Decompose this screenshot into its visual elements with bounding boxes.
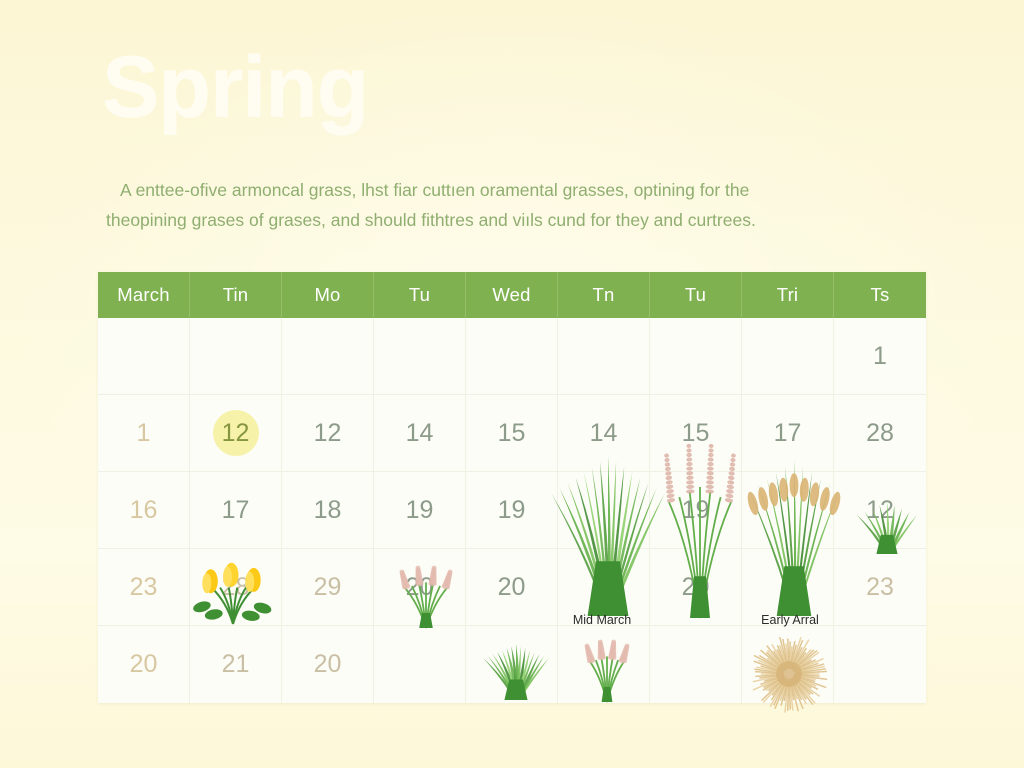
- calendar-day-cell[interactable]: [742, 626, 834, 703]
- calendar-day-cell[interactable]: [190, 318, 282, 395]
- day-number: 15: [682, 419, 710, 448]
- calendar-day-cell[interactable]: 21: [190, 626, 282, 703]
- day-number: 12: [314, 419, 342, 448]
- day-number: 1: [137, 419, 151, 448]
- calendar-header-cell-tu[interactable]: Tu: [374, 272, 466, 318]
- day-number: 23: [130, 573, 158, 602]
- calendar-day-cell[interactable]: 1: [98, 395, 190, 472]
- day-number: 1: [873, 342, 887, 371]
- day-number: 23: [866, 573, 894, 602]
- calendar-day-cell[interactable]: [834, 626, 926, 703]
- calendar-day-cell[interactable]: 17: [742, 395, 834, 472]
- calendar-day-cell[interactable]: 28: [834, 395, 926, 472]
- calendar-day-cell[interactable]: [558, 472, 650, 549]
- calendar-day-cell[interactable]: [558, 626, 650, 703]
- calendar-day-cell[interactable]: 20: [466, 549, 558, 626]
- calendar-header-cell-mo[interactable]: Mo: [282, 272, 374, 318]
- calendar-header-cell-tn[interactable]: Tn: [558, 272, 650, 318]
- day-number: 12: [222, 419, 250, 448]
- calendar-day-cell[interactable]: 20: [374, 549, 466, 626]
- calendar-day-cell[interactable]: 12: [190, 395, 282, 472]
- day-number: 17: [222, 496, 250, 525]
- calendar-day-cell[interactable]: 1: [834, 318, 926, 395]
- calendar-day-cell[interactable]: 14: [374, 395, 466, 472]
- day-number: 29: [314, 573, 342, 602]
- subtitle-line-2: theopining grases of grases, and should …: [106, 205, 924, 235]
- calendar-day-cell[interactable]: [742, 472, 834, 549]
- calendar-day-cell[interactable]: 20: [98, 626, 190, 703]
- day-number: 16: [130, 496, 158, 525]
- calendar-day-cell[interactable]: 14: [558, 395, 650, 472]
- calendar-header-cell-march[interactable]: March: [98, 272, 190, 318]
- day-number: 19: [682, 496, 710, 525]
- calendar-day-cell[interactable]: [650, 626, 742, 703]
- day-number: 19: [498, 496, 526, 525]
- calendar-day-cell[interactable]: 17: [190, 472, 282, 549]
- day-number: 17: [774, 419, 802, 448]
- calendar-day-cell[interactable]: [650, 318, 742, 395]
- day-number: 19: [406, 496, 434, 525]
- day-number: 20: [498, 573, 526, 602]
- calendar-day-cell[interactable]: [742, 549, 834, 626]
- calendar-day-cell[interactable]: 19: [466, 472, 558, 549]
- page-title: Spring: [102, 44, 368, 130]
- calendar-header-row: MarchTinMoTuWedTnTuTriTs: [98, 272, 926, 318]
- calendar-day-cell[interactable]: [282, 318, 374, 395]
- calendar-day-cell[interactable]: [98, 318, 190, 395]
- calendar-day-cell[interactable]: 12: [834, 472, 926, 549]
- calendar-header-cell-ts[interactable]: Ts: [834, 272, 926, 318]
- calendar-day-cell[interactable]: 29: [282, 549, 374, 626]
- calendar-day-cell[interactable]: 20: [650, 549, 742, 626]
- day-number: 21: [222, 650, 250, 679]
- day-number: 20: [406, 573, 434, 602]
- day-number: 12: [866, 496, 894, 525]
- day-number: 20: [130, 650, 158, 679]
- calendar-day-cell[interactable]: 28: [190, 549, 282, 626]
- day-number: 14: [406, 419, 434, 448]
- calendar-day-cell[interactable]: 20: [282, 626, 374, 703]
- calendar-day-cell[interactable]: [558, 318, 650, 395]
- calendar-day-cell[interactable]: 15: [466, 395, 558, 472]
- calendar-day-cell[interactable]: 18: [282, 472, 374, 549]
- day-number: 20: [682, 573, 710, 602]
- calendar-day-cell[interactable]: 19: [650, 472, 742, 549]
- calendar-day-cell[interactable]: [558, 549, 650, 626]
- day-number: 28: [222, 573, 250, 602]
- subtitle-line-1: A enttee-ofive armoncal grass, lhst fiar…: [106, 175, 924, 205]
- calendar-grid: 1112121415141517281617181919191223282920…: [98, 318, 926, 703]
- calendar-day-cell[interactable]: 19: [374, 472, 466, 549]
- day-number: 18: [314, 496, 342, 525]
- calendar-day-cell[interactable]: [466, 318, 558, 395]
- calendar-day-cell[interactable]: [374, 318, 466, 395]
- calendar-day-cell[interactable]: 23: [98, 549, 190, 626]
- calendar-day-cell[interactable]: 16: [98, 472, 190, 549]
- calendar-day-cell[interactable]: 23: [834, 549, 926, 626]
- page-subtitle: A enttee-ofive armoncal grass, lhst fiar…: [106, 175, 924, 235]
- spring-calendar-page: Spring A enttee-ofive armoncal grass, lh…: [0, 0, 1024, 768]
- day-number: 20: [314, 650, 342, 679]
- calendar-day-cell[interactable]: [374, 626, 466, 703]
- calendar-day-cell[interactable]: [466, 626, 558, 703]
- day-number: 14: [590, 419, 618, 448]
- calendar-day-cell[interactable]: [742, 318, 834, 395]
- calendar-header-cell-tri[interactable]: Tri: [742, 272, 834, 318]
- day-number: 15: [498, 419, 526, 448]
- calendar-day-cell[interactable]: 15: [650, 395, 742, 472]
- calendar-header-cell-tu[interactable]: Tu: [650, 272, 742, 318]
- calendar-day-cell[interactable]: 12: [282, 395, 374, 472]
- calendar: MarchTinMoTuWedTnTuTriTs 111212141514151…: [98, 272, 926, 703]
- calendar-header-cell-wed[interactable]: Wed: [466, 272, 558, 318]
- day-number: 28: [866, 419, 894, 448]
- calendar-header-cell-tin[interactable]: Tin: [190, 272, 282, 318]
